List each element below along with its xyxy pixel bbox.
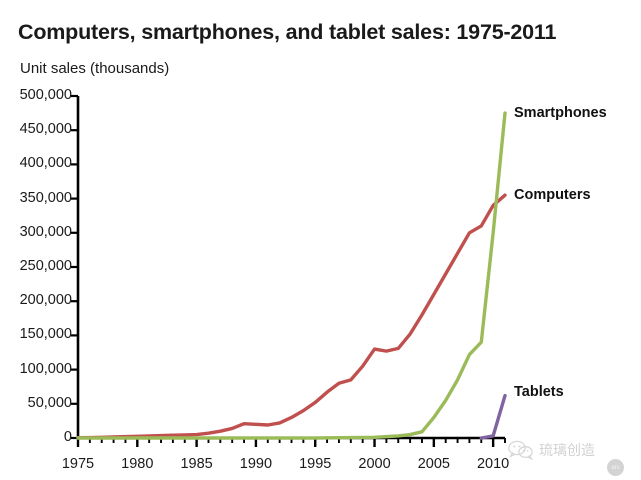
y-tick-label: 100,000: [0, 361, 72, 377]
y-tick-label: 0: [0, 429, 72, 445]
y-tick-label: 200,000: [0, 292, 72, 308]
chart-container: Computers, smartphones, and tablet sales…: [0, 0, 641, 480]
series-label-computers: Computers: [514, 187, 591, 203]
plot-area: [0, 0, 641, 480]
axes-layer: [71, 96, 505, 447]
y-tick-label: 250,000: [0, 258, 72, 274]
series-line-smartphones: [78, 113, 505, 438]
series-layer: [78, 113, 505, 438]
y-tick-label: 50,000: [0, 395, 72, 411]
y-tick-label: 300,000: [0, 224, 72, 240]
x-tick-label: 1975: [48, 456, 108, 472]
watermark-text: 琉璃创造: [539, 440, 595, 460]
x-tick-label: 2000: [345, 456, 405, 472]
series-line-computers: [78, 195, 505, 437]
x-tick-label: 1990: [226, 456, 286, 472]
y-tick-label: 500,000: [0, 87, 72, 103]
y-tick-label: 350,000: [0, 190, 72, 206]
series-label-tablets: Tablets: [514, 384, 564, 400]
watermark-badge: ars: [607, 459, 624, 476]
watermark: 琉璃创造: [508, 440, 595, 460]
x-tick-label: 1980: [107, 456, 167, 472]
y-tick-label: 450,000: [0, 121, 72, 137]
x-tick-label: 2005: [404, 456, 464, 472]
x-tick-label: 1985: [167, 456, 227, 472]
series-label-smartphones: Smartphones: [514, 105, 607, 121]
wechat-icon: [508, 440, 534, 460]
y-tick-label: 150,000: [0, 326, 72, 342]
series-line-tablets: [481, 396, 505, 438]
y-tick-label: 400,000: [0, 155, 72, 171]
x-tick-label: 1995: [285, 456, 345, 472]
